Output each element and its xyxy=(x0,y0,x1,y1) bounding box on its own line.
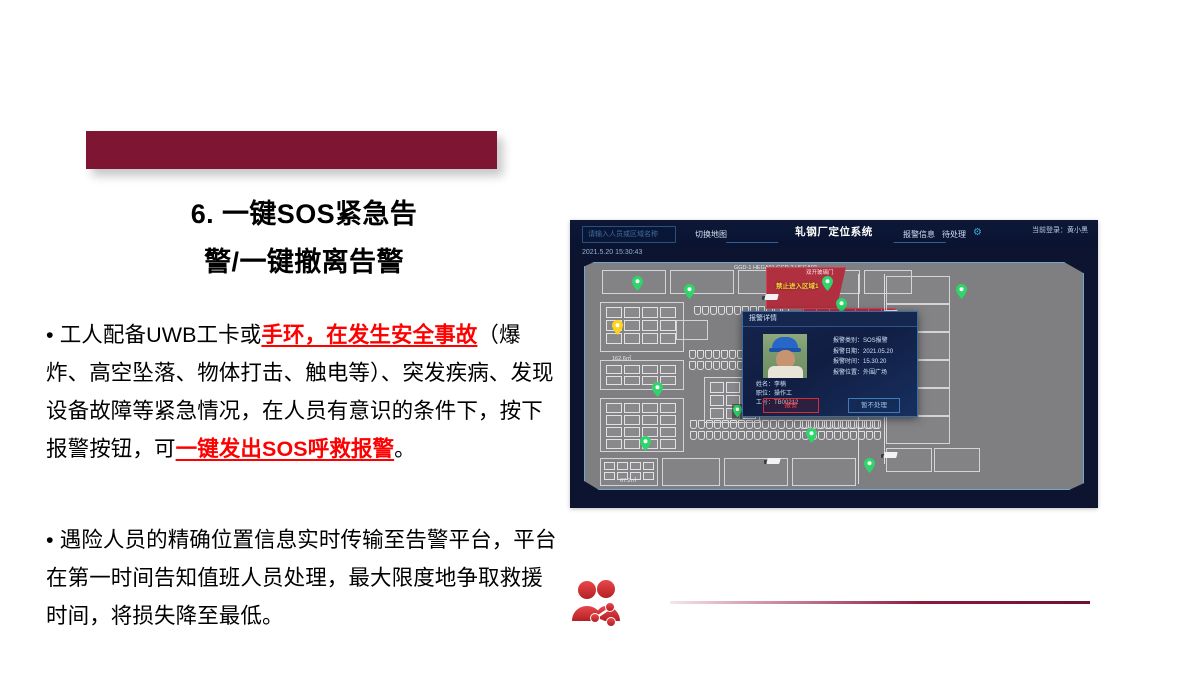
map-pin-person[interactable] xyxy=(806,428,817,443)
alarm-time-label: 报警时间： xyxy=(833,359,863,365)
paragraph-1-highlight-1: 手环，在发生安全事故 xyxy=(261,323,477,347)
system-title: 轧钢厂定位系统 xyxy=(570,224,1098,239)
map-desk-cluster xyxy=(606,365,676,385)
alarm-field-type: 报警类别：SOS报警 xyxy=(833,336,893,347)
map-seat-row xyxy=(690,431,881,440)
title-banner-bar xyxy=(86,131,497,169)
alarm-confirm-button[interactable]: 报警 xyxy=(763,398,819,413)
alarm-field-date: 报警日期：2021.05.20 xyxy=(833,347,893,358)
person-role-label: 职位： xyxy=(756,391,774,397)
paragraph-1-highlight-2: 一键发出SOS呼救报警 xyxy=(176,437,395,461)
map-pin-person[interactable] xyxy=(684,284,695,299)
alarm-field-location: 报警位置：外围广场 xyxy=(833,368,893,379)
dialog-titlebar: 报警详情 xyxy=(743,312,917,327)
worker-photo xyxy=(763,334,807,378)
person-name-value: 李楠 xyxy=(774,382,786,388)
map-room xyxy=(934,448,980,472)
person-name-label: 姓名： xyxy=(756,382,774,388)
alarm-type-value: SOS报警 xyxy=(863,338,888,344)
alarm-dismiss-button[interactable]: 暂不处理 xyxy=(848,398,900,413)
map-room xyxy=(792,458,856,486)
person-role-value: 操作工 xyxy=(774,391,792,397)
map-pin-person[interactable] xyxy=(652,382,663,397)
nav-pending[interactable]: 待处理 xyxy=(942,229,966,240)
map-pin-person[interactable] xyxy=(956,284,967,299)
body-paragraph-2: • 遇险人员的精确位置信息实时传输至告警平台，平台在第一时间告知值班人员处理，最… xyxy=(46,521,558,635)
nav-alarm-info[interactable]: 报警信息 xyxy=(903,229,935,240)
slide-root: 6. 一键SOS紧急告 警/一键撤离告警 • 工人配备UWB工卡或手环，在发生安… xyxy=(0,0,1201,676)
alarm-detail-dialog[interactable]: 报警详情 姓名：李楠 职位：操作工 工号：TB00212 报警类别：SOS报警 … xyxy=(742,311,918,417)
map-room xyxy=(886,276,950,304)
map-label-door: 双开玻璃门 xyxy=(806,268,834,276)
page-title-line-1: 6. 一键SOS紧急告 xyxy=(44,190,564,238)
alarm-time-value: 15.30.20 xyxy=(863,359,886,365)
camera-icon[interactable] xyxy=(764,458,780,466)
alarm-location-value: 外围广场 xyxy=(863,370,887,376)
map-room xyxy=(670,270,734,294)
body-paragraph-1: • 工人配备UWB工卡或手环，在发生安全事故（爆炸、高空坠落、物体打击、触电等）… xyxy=(46,316,558,468)
map-pin-person[interactable] xyxy=(822,276,833,291)
map-pin-person[interactable] xyxy=(864,458,875,473)
timestamp-label: 2021.5.20 15:30:43 xyxy=(582,249,642,256)
gear-icon[interactable]: ⚙ xyxy=(973,228,983,238)
map-pin-person[interactable] xyxy=(640,436,651,451)
paragraph-1-lead: • 工人配备UWB工卡或 xyxy=(46,323,261,347)
person-field-name: 姓名：李楠 xyxy=(756,381,798,390)
map-label-area-67: 67.2㎡ xyxy=(620,476,636,484)
alarm-type-label: 报警类别： xyxy=(833,338,863,344)
map-room xyxy=(886,416,950,444)
alarm-field-time: 报警时间：15.30.20 xyxy=(833,357,893,368)
alarm-date-value: 2021.05.20 xyxy=(863,349,893,355)
alarm-location-label: 报警位置： xyxy=(833,370,863,376)
map-zone-label-forbidden: 禁止进入区域1 xyxy=(776,280,819,290)
dialog-title: 报警详情 xyxy=(743,312,917,326)
current-user-label: 当前登录：黄小黑 xyxy=(1032,225,1088,235)
map-pin-warning[interactable] xyxy=(612,320,623,335)
people-share-icon xyxy=(565,577,627,629)
page-title-line-2: 警/一键撤离告警 xyxy=(44,238,564,286)
camera-icon[interactable] xyxy=(881,452,897,460)
paragraph-1-tail: 。 xyxy=(394,437,416,461)
alarm-date-label: 报警日期： xyxy=(833,349,863,355)
map-room xyxy=(662,458,720,486)
map-pin-person[interactable] xyxy=(632,276,643,291)
alarm-info-block: 报警类别：SOS报警 报警日期：2021.05.20 报警时间：15.30.20… xyxy=(833,336,893,378)
divider-line xyxy=(670,601,1090,604)
camera-icon[interactable] xyxy=(762,294,778,302)
map-room xyxy=(676,320,708,340)
page-title: 6. 一键SOS紧急告 警/一键撤离告警 xyxy=(44,190,564,286)
